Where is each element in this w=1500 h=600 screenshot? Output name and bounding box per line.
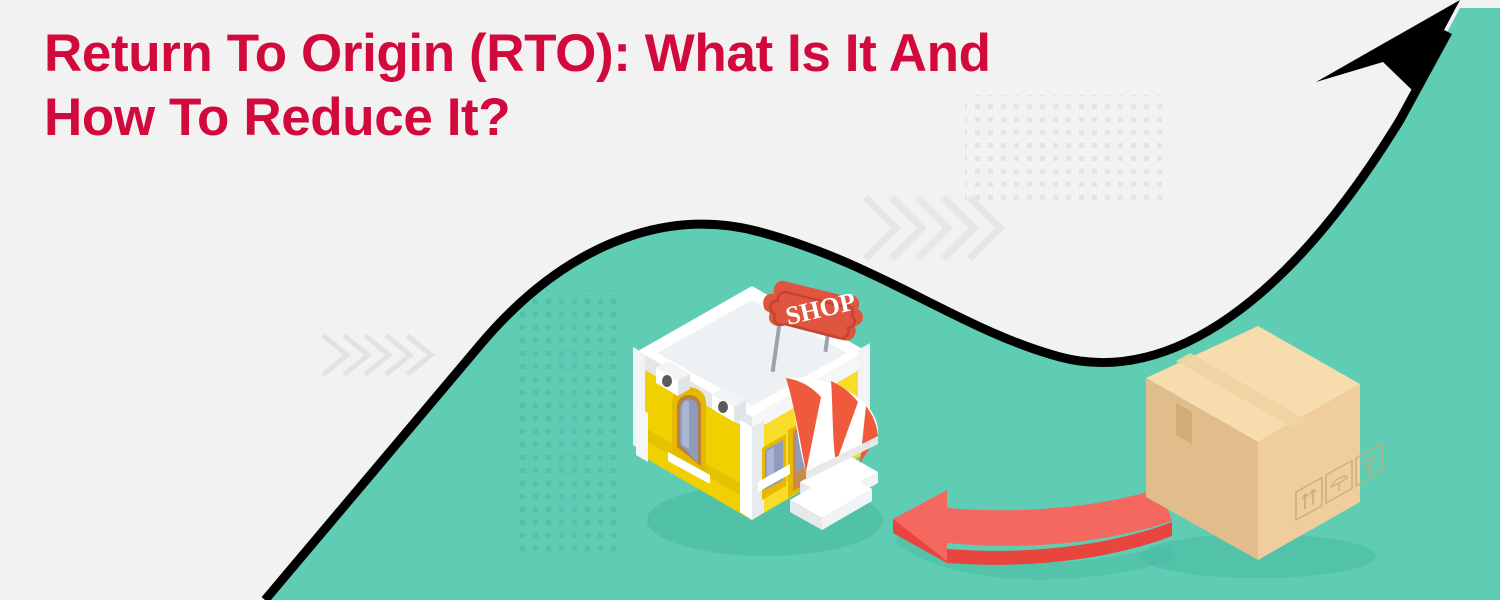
shop-pillar-mid-left — [636, 406, 648, 462]
dot-grid-left-teal — [512, 290, 620, 555]
rto-banner: SHOP — [0, 0, 1500, 600]
dot-grid-top-right — [965, 95, 1165, 200]
shop-window-pane-highlight — [682, 401, 689, 449]
banner-illustration: SHOP — [0, 0, 1500, 600]
